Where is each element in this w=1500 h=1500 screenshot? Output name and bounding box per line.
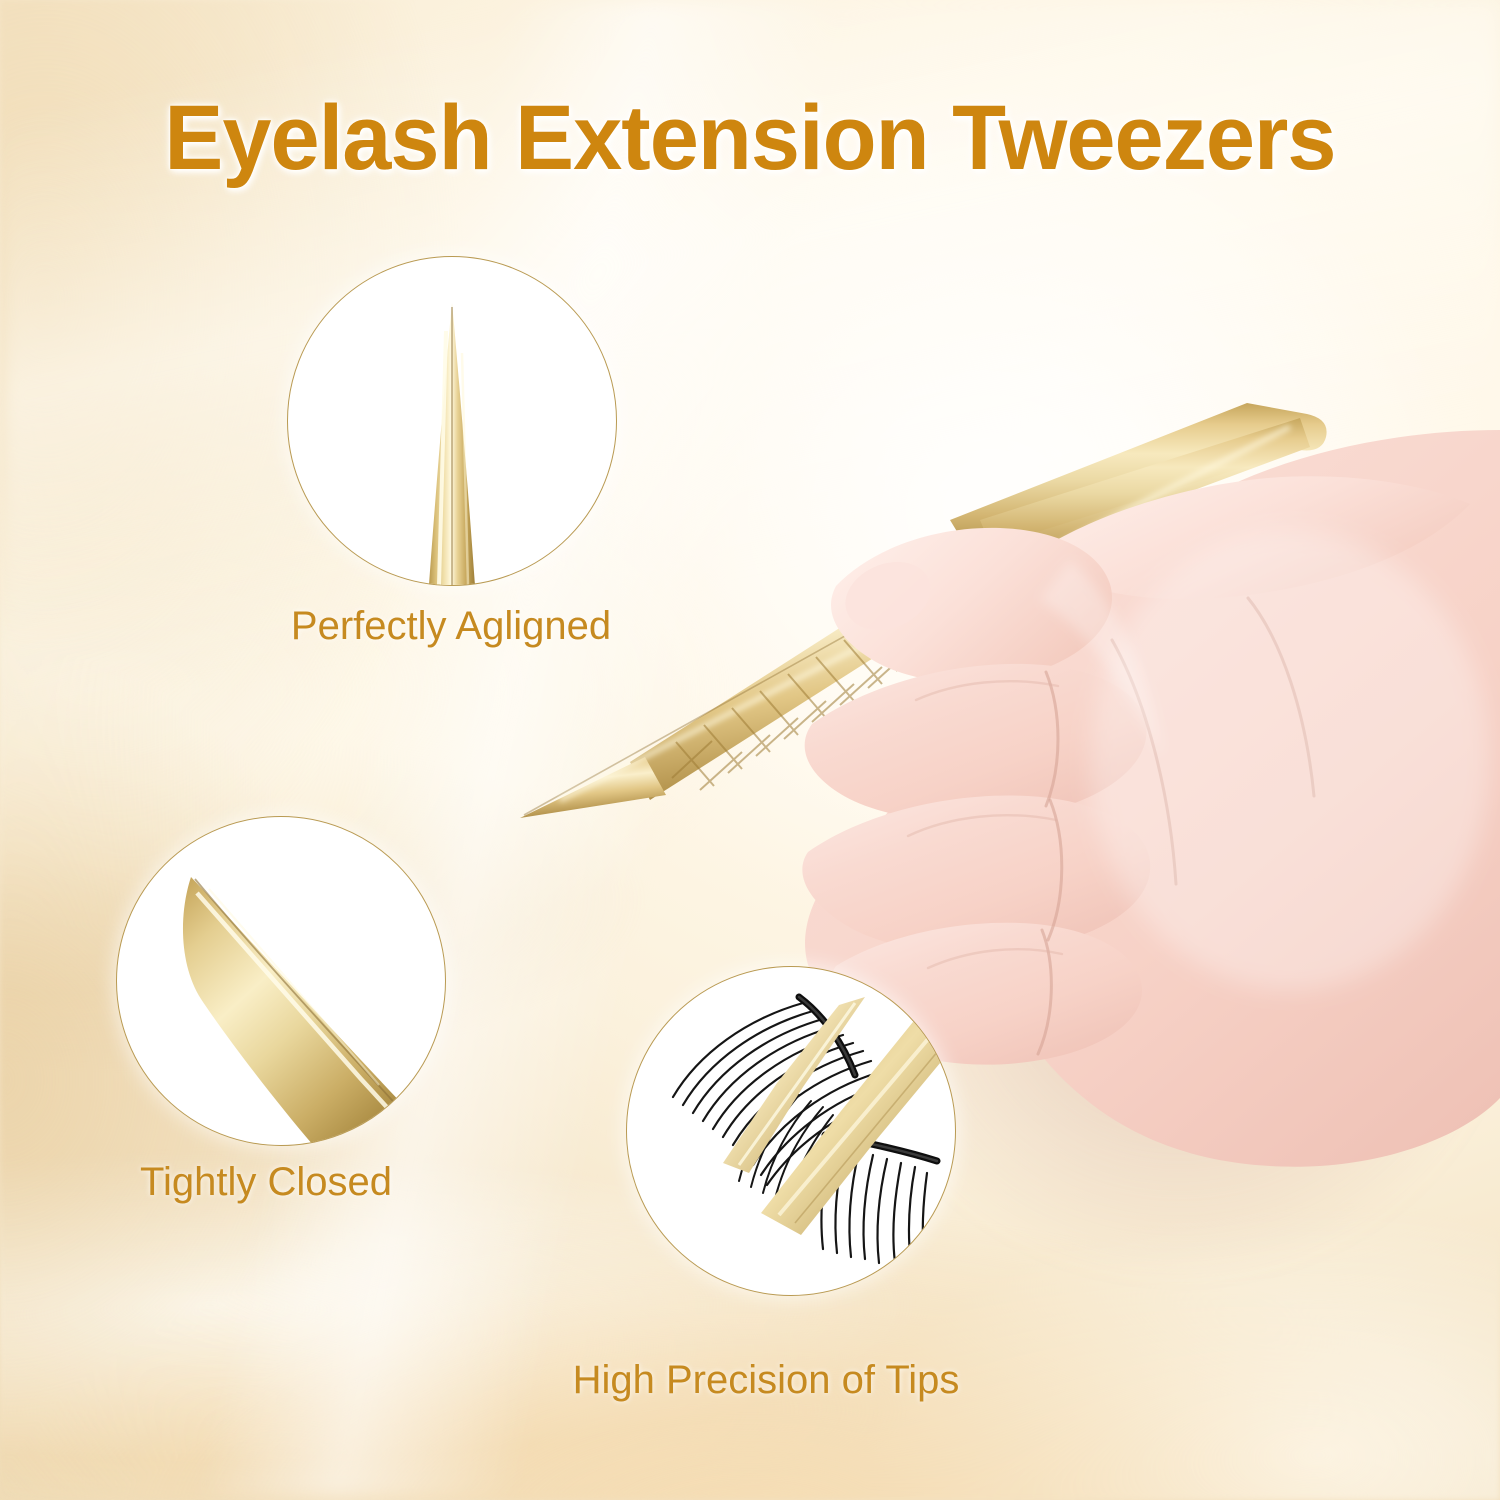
product-marketing-image: Eyelash Extension Tweezers	[0, 0, 1500, 1500]
caption-tightly-closed: Tightly Closed	[0, 1160, 532, 1205]
callout-circle-perfectly-aligned	[287, 256, 617, 586]
tweezers-lifting-lashes	[627, 967, 955, 1295]
caption-high-precision: High Precision of Tips	[0, 1358, 1500, 1403]
caption-perfectly-aligned: Perfectly Agligned	[0, 604, 902, 649]
tweezer-tip-diagonal	[117, 817, 445, 1145]
callout-circle-tightly-closed	[116, 816, 446, 1146]
tweezer-tip-vertical	[288, 257, 616, 585]
callout-circle-high-precision	[626, 966, 956, 1296]
